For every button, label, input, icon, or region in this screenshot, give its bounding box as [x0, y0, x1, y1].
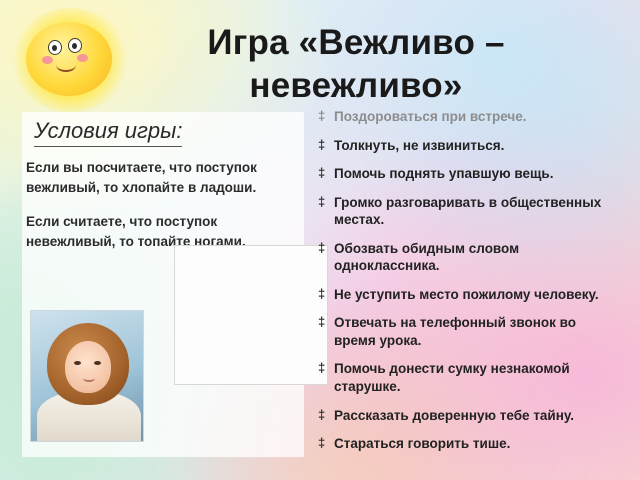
sun-cheek-left — [42, 56, 53, 64]
girl-mouth — [83, 375, 95, 382]
bullet-icon: ‡ — [318, 194, 334, 211]
list-item-label: Не уступить место пожилому человеку. — [334, 286, 618, 304]
list-item: ‡ Стараться говорить тише. — [318, 435, 618, 453]
bullet-icon: ‡ — [318, 360, 334, 377]
sun-mouth — [56, 58, 76, 72]
list-item-label: Громко разговаривать в общественных мест… — [334, 194, 618, 229]
clapping-hands-illustration — [174, 245, 328, 385]
sun-pupil-right — [72, 43, 77, 49]
girl-photo — [30, 310, 144, 442]
sun-face — [44, 38, 98, 82]
list-item-label: Помочь донести сумку незнакомой старушке… — [334, 360, 618, 395]
list-item-label: Помочь поднять упавшую вещь. — [334, 165, 618, 183]
list-item: ‡ Обозвать обидным словом одноклассника. — [318, 240, 618, 275]
list-item: ‡ Помочь поднять упавшую вещь. — [318, 165, 618, 183]
list-item-label: Стараться говорить тише. — [334, 435, 618, 453]
slide: Игра «Вежливо – невежливо» Условия игры:… — [0, 0, 640, 480]
list-item: ‡ Рассказать доверенную тебе тайну. — [318, 407, 618, 425]
sun-eye-right — [68, 38, 82, 53]
sun-eye-left — [48, 40, 62, 55]
rules-paragraph-polite: Если вы посчитаете, что поступок вежливы… — [26, 158, 288, 198]
illustration-background — [175, 246, 327, 384]
list-item-label: Обозвать обидным словом одноклассника. — [334, 240, 618, 275]
list-item-label: Отвечать на телефонный звонок во время у… — [334, 314, 618, 349]
behaviour-list: ‡ Поздороваться при встрече. ‡ Толкнуть,… — [318, 108, 618, 464]
sun-pupil-left — [52, 45, 57, 51]
rules-heading: Условия игры: — [34, 118, 182, 147]
bullet-icon: ‡ — [318, 137, 334, 154]
bullet-icon: ‡ — [318, 165, 334, 182]
list-item-label: Толкнуть, не извиниться. — [334, 137, 618, 155]
girl-eye-right — [94, 361, 101, 365]
page-title: Игра «Вежливо – невежливо» — [96, 22, 616, 107]
bullet-icon: ‡ — [318, 240, 334, 257]
bullet-icon: ‡ — [318, 435, 334, 452]
bullet-icon: ‡ — [318, 108, 334, 125]
list-item-label: Рассказать доверенную тебе тайну. — [334, 407, 618, 425]
list-item: ‡ Не уступить место пожилому человеку. — [318, 286, 618, 304]
bullet-icon: ‡ — [318, 407, 334, 424]
girl-eye-left — [74, 361, 81, 365]
bullet-icon: ‡ — [318, 286, 334, 303]
bullet-icon: ‡ — [318, 314, 334, 331]
list-item-label: Поздороваться при встрече. — [334, 108, 618, 126]
list-item: ‡ Громко разговаривать в общественных ме… — [318, 194, 618, 229]
list-item: ‡ Отвечать на телефонный звонок во время… — [318, 314, 618, 349]
sun-cheek-right — [77, 54, 88, 62]
list-item: ‡ Помочь донести сумку незнакомой старуш… — [318, 360, 618, 395]
list-item: ‡ Поздороваться при встрече. — [318, 108, 618, 126]
girl-face — [65, 341, 111, 393]
list-item: ‡ Толкнуть, не извиниться. — [318, 137, 618, 155]
